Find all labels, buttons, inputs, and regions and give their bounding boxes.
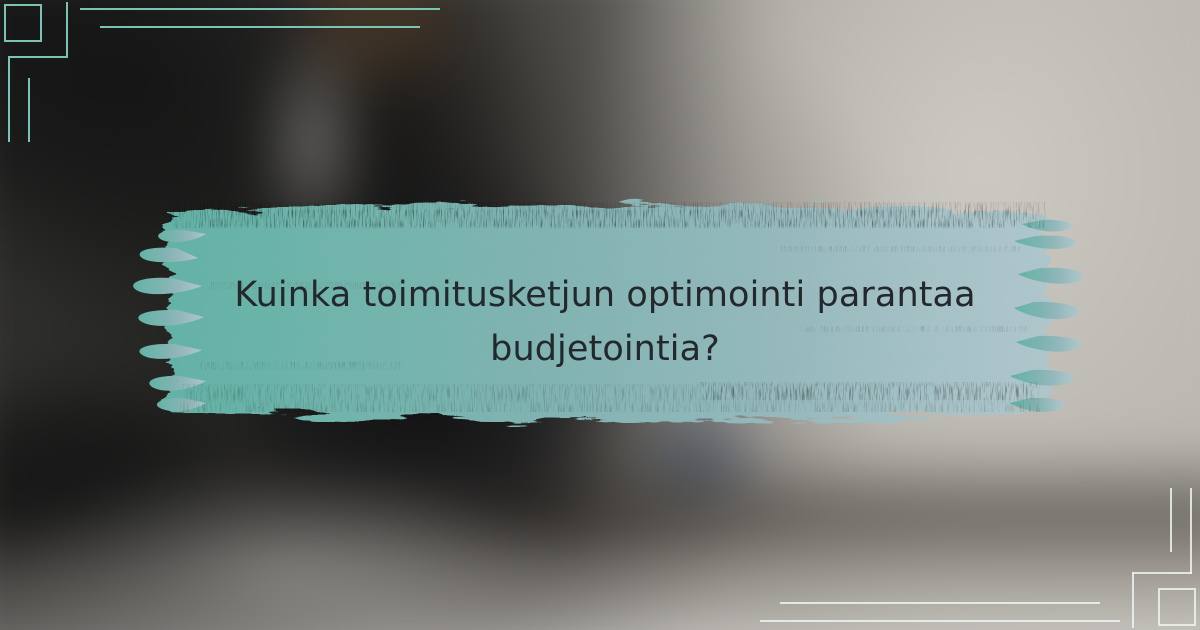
ornament-corner-square — [1158, 588, 1196, 626]
banner-bottom-texture — [180, 382, 1040, 412]
ornament-bar-upper — [760, 620, 1120, 622]
ornament-inner-vertical — [1170, 488, 1172, 552]
ornament-step-horizontal — [8, 56, 68, 58]
quote-line-2: budjetointia? — [190, 322, 1020, 376]
corner-ornament-top-left — [0, 0, 160, 150]
ornament-corner-square — [4, 4, 42, 42]
ornament-bar-upper — [80, 8, 440, 10]
quote-text: Kuinka toimitusketjun optimointi paranta… — [190, 268, 1020, 377]
ornament-step-vertical — [1132, 572, 1134, 628]
ornament-step-vertical — [66, 2, 68, 58]
ornament-step-horizontal — [1132, 572, 1192, 574]
quote-card: Kuinka toimitusketjun optimointi paranta… — [0, 0, 1200, 630]
ornament-inner-vertical — [28, 78, 30, 142]
banner-top-texture — [170, 202, 1046, 228]
ornament-step-drop — [8, 56, 10, 142]
corner-ornament-bottom-right — [1040, 480, 1200, 630]
quote-line-1: Kuinka toimitusketjun optimointi paranta… — [190, 268, 1020, 322]
ornament-step-drop — [1190, 488, 1192, 574]
ornament-bar-lower — [780, 602, 1100, 604]
ornament-bar-lower — [100, 26, 420, 28]
